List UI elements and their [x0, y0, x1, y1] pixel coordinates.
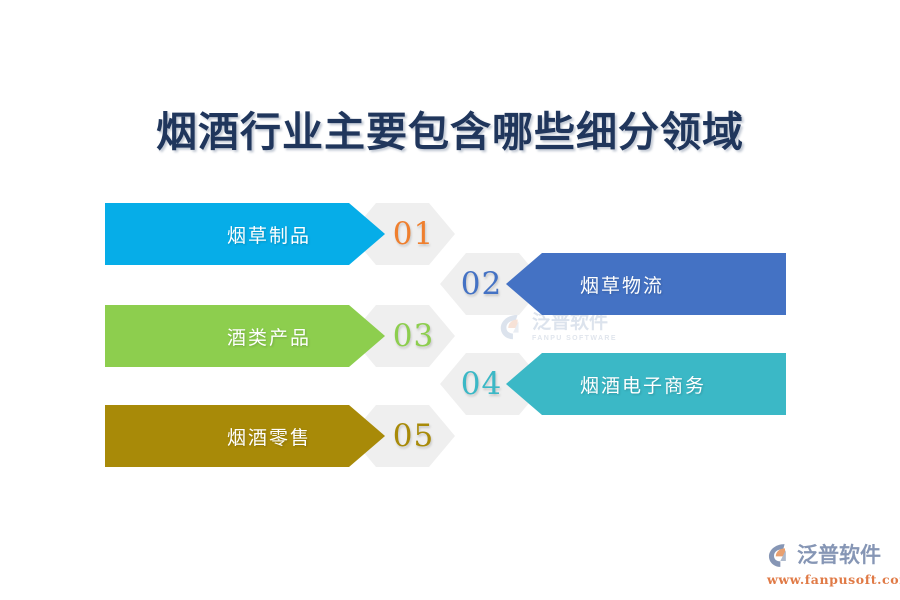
fanpu-logo-icon: [766, 542, 793, 569]
brand-logo: 泛普软件 www.fanpusoft.com: [766, 541, 892, 587]
segment-rows: 01 烟草制品 02 烟草物流 03 酒类产品: [0, 0, 900, 600]
segment-number-3: 03: [393, 321, 434, 352]
infographic-slide: 烟酒行业主要包含哪些细分领域 泛普软件 FANPU SOFTWARE 01 烟草…: [0, 0, 900, 600]
brand-logo-row: 泛普软件: [766, 541, 881, 569]
segment-label-2: 烟草物流: [580, 271, 664, 298]
segment-number-5: 05: [393, 421, 434, 452]
segment-number-2: 02: [461, 269, 502, 300]
segment-label-4: 烟酒电子商务: [580, 371, 706, 398]
segment-label-5: 烟酒零售: [227, 423, 311, 450]
brand-url: www.fanpusoft.com: [767, 572, 900, 587]
segment-label-1: 烟草制品: [227, 221, 311, 248]
brand-company-cn: 泛普软件: [797, 545, 881, 566]
segment-bar-5[interactable]: 烟酒零售: [105, 405, 385, 467]
segment-number-1: 01: [393, 219, 434, 250]
segment-label-3: 酒类产品: [227, 323, 311, 350]
segment-row-5: 05 烟酒零售: [0, 405, 900, 467]
segment-number-4: 04: [461, 369, 502, 400]
